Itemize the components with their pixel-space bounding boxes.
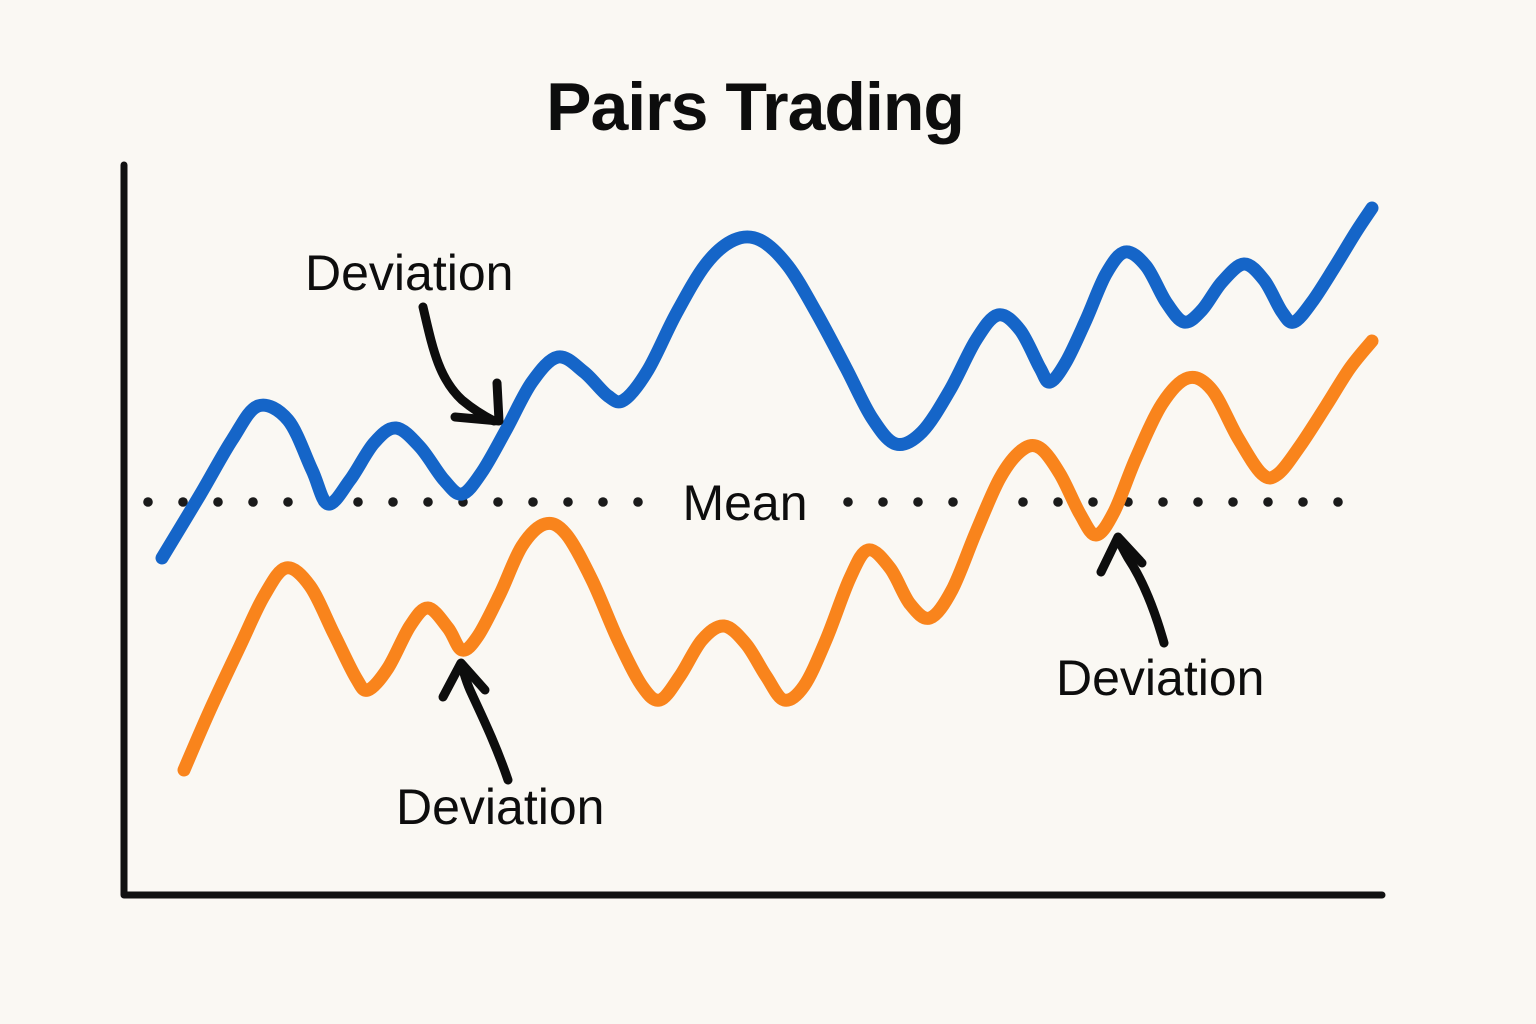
mean-line-dot	[1333, 497, 1343, 507]
mean-line-dot	[143, 497, 153, 507]
mean-line-dot	[283, 497, 293, 507]
mean-line-dot	[423, 497, 433, 507]
mean-line-dot	[213, 497, 223, 507]
chart-canvas: Pairs Trading Mean Deviation Deviation D…	[0, 0, 1536, 1024]
mean-line-dot	[598, 497, 608, 507]
mean-line-dot	[353, 497, 363, 507]
deviation-label-bottom-left: Deviation	[396, 779, 604, 835]
mean-line-dot	[843, 497, 853, 507]
mean-line-dot	[633, 497, 643, 507]
mean-line-dot	[1193, 497, 1203, 507]
mean-line-dot	[878, 497, 888, 507]
chart-title: Pairs Trading	[546, 69, 964, 145]
mean-line-dot	[1158, 497, 1168, 507]
mean-line-dot	[528, 497, 538, 507]
mean-label: Mean	[682, 475, 807, 531]
deviation-label-bottom-right: Deviation	[1056, 650, 1264, 706]
mean-line-dot	[1053, 497, 1063, 507]
mean-line-dot	[1088, 497, 1098, 507]
mean-line-dot	[913, 497, 923, 507]
mean-line-dot	[563, 497, 573, 507]
mean-line-dot	[1263, 497, 1273, 507]
mean-line-dot	[1228, 497, 1238, 507]
mean-line-dot	[948, 497, 958, 507]
mean-line-dot	[1018, 497, 1028, 507]
pairs-trading-chart: Pairs Trading Mean Deviation Deviation D…	[0, 0, 1536, 1024]
mean-line-dot	[388, 497, 398, 507]
deviation-label-top: Deviation	[305, 245, 513, 301]
mean-line-dot	[1298, 497, 1308, 507]
mean-line-dot	[248, 497, 258, 507]
mean-line-dot	[493, 497, 503, 507]
